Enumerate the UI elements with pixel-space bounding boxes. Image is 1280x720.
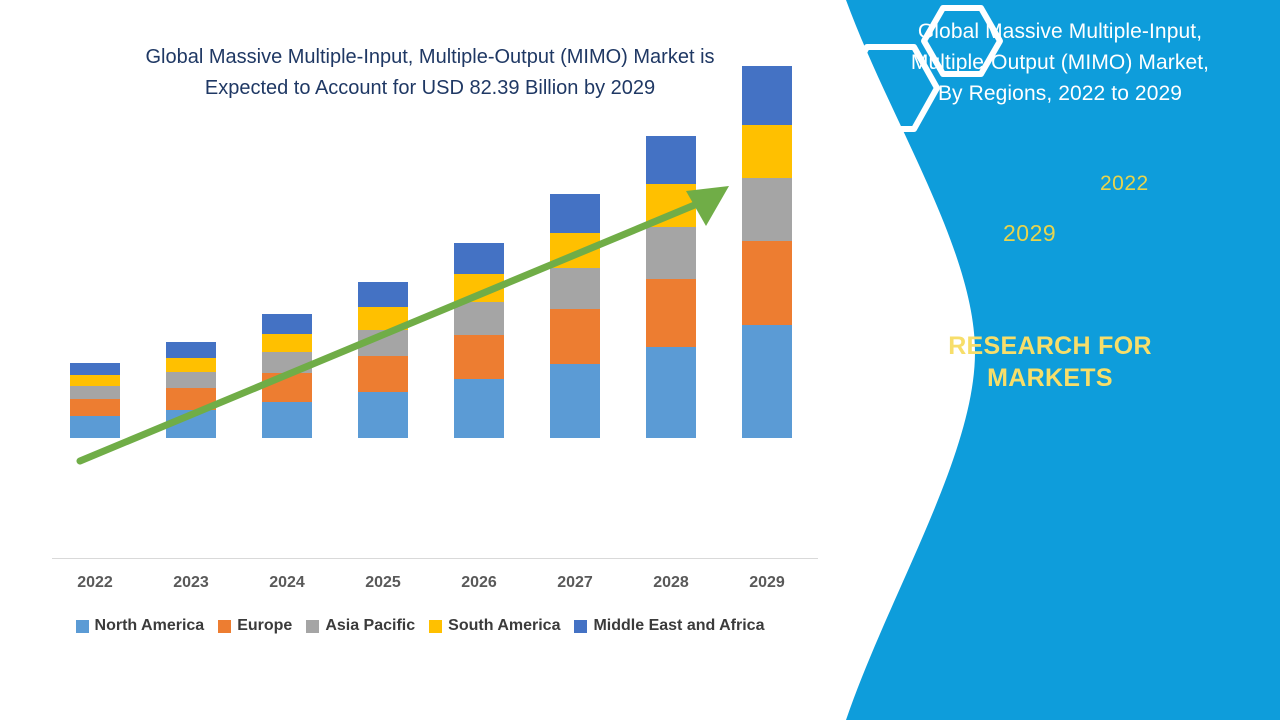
x-axis-label-2029: 2029 (727, 574, 807, 592)
legend-label: Europe (237, 617, 292, 635)
infographic-slide: Global Massive Multiple-Input, Multiple-… (0, 0, 1280, 720)
legend-item[interactable]: South America (429, 617, 560, 635)
brand-wordmark: RESEARCH FOR MARKETS (850, 330, 1250, 394)
hexagon-label-2022: 2022 (1100, 172, 1149, 196)
legend-label: Middle East and Africa (593, 617, 764, 635)
legend-item[interactable]: Europe (218, 617, 292, 635)
legend-swatch-icon (574, 620, 587, 633)
x-axis-labels: 20222023202420252026202720282029 (0, 574, 840, 600)
hexagon-2029-outline (844, 47, 937, 129)
x-axis-label-2025: 2025 (343, 574, 423, 592)
legend-label: Asia Pacific (325, 617, 415, 635)
legend-item[interactable]: Asia Pacific (306, 617, 415, 635)
x-axis-label-2023: 2023 (151, 574, 231, 592)
brand-line-2: MARKETS (850, 362, 1250, 394)
legend-swatch-icon (429, 620, 442, 633)
brand-line-1: RESEARCH FOR (850, 330, 1250, 362)
chart-plot-area (0, 0, 840, 600)
x-axis-label-2026: 2026 (439, 574, 519, 592)
growth-arrow-icon (0, 0, 840, 600)
legend-label: North America (95, 617, 205, 635)
chart-legend: North AmericaEuropeAsia PacificSouth Ame… (0, 617, 840, 635)
legend-swatch-icon (76, 620, 89, 633)
hexagon-2022-outline (924, 8, 1000, 74)
x-axis-label-2028: 2028 (631, 574, 711, 592)
legend-swatch-icon (306, 620, 319, 633)
legend-label: South America (448, 617, 560, 635)
x-axis-label-2024: 2024 (247, 574, 327, 592)
legend-item[interactable]: North America (76, 617, 205, 635)
legend-item[interactable]: Middle East and Africa (574, 617, 764, 635)
legend-swatch-icon (218, 620, 231, 633)
hexagon-badges (820, 0, 1070, 150)
hexagon-label-2029: 2029 (1003, 220, 1056, 247)
x-axis-label-2022: 2022 (55, 574, 135, 592)
x-axis-label-2027: 2027 (535, 574, 615, 592)
right-info-panel: Global Massive Multiple-Input, Multiple-… (820, 0, 1280, 720)
